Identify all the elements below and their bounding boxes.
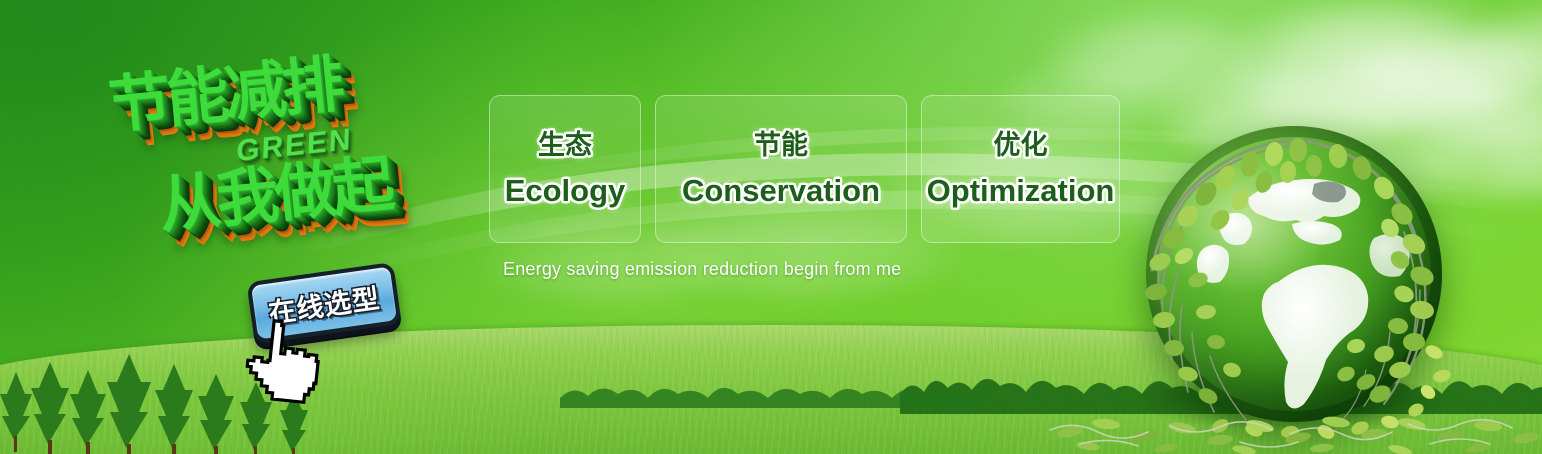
title-line-2: 从我做起: [154, 133, 394, 245]
feature-card-ecology[interactable]: 生态 Ecology: [489, 95, 641, 243]
feature-card-en-label: Conservation: [682, 175, 880, 206]
feature-card-en-label: Ecology: [505, 175, 626, 206]
feature-card-optimization[interactable]: 优化 Optimization: [921, 95, 1120, 243]
tagline: Energy saving emission reduction begin f…: [503, 259, 901, 280]
feature-card-cn-label: 优化: [994, 132, 1048, 159]
pointing-hand-cursor-icon: [232, 313, 336, 409]
hero-title-3d: 节能减排 GREEN 从我做起: [96, 36, 496, 271]
feature-card-conservation[interactable]: 节能 Conservation: [655, 95, 907, 243]
green-energy-banner: 节能减排 GREEN 从我做起 在线选型 生态 Ecology 节能 Conse…: [0, 0, 1542, 454]
feature-card-cn-label: 生态: [538, 132, 592, 159]
leaf-litter-ground: [1040, 374, 1542, 454]
feature-card-en-label: Optimization: [927, 175, 1115, 206]
title-line-2-text: 从我做起: [154, 133, 394, 245]
feature-cards: 生态 Ecology 节能 Conservation 优化 Optimizati…: [489, 95, 1120, 243]
feature-card-cn-label: 节能: [754, 132, 808, 159]
